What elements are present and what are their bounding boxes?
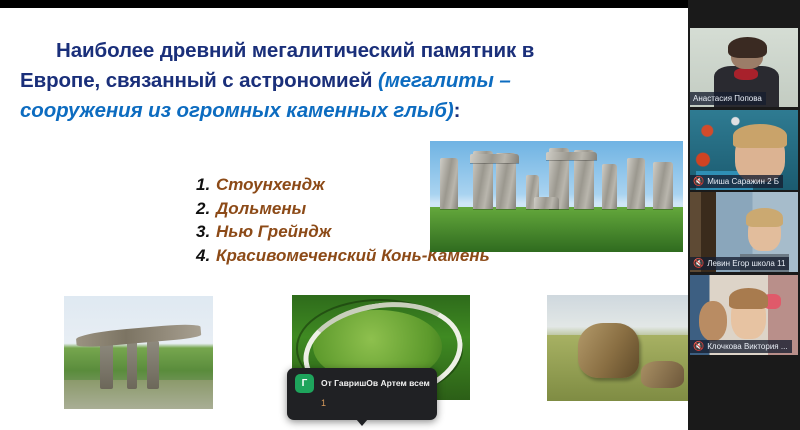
list-item-number: 4. xyxy=(196,244,216,268)
list-item-number: 1. xyxy=(196,173,216,197)
participant-video-sidebar: Анастасия Попова 🔇 Миша Саражин 2 Б 🔇 Ле… xyxy=(688,0,800,430)
presentation-slide: Наиболее древний мегалитический памятник… xyxy=(0,8,696,430)
participant-name-label: Анастасия Попова xyxy=(690,92,766,105)
stonehenge-photo xyxy=(430,141,683,252)
participant-name: Клочкова Виктория ... xyxy=(707,341,787,352)
list-item-label: Нью Грейндж xyxy=(216,220,331,244)
chat-notification-toast[interactable]: Г От ГавришОв Артем всем 1 xyxy=(287,368,437,420)
participant-tile[interactable]: 🔇 Левин Егор школа 11 xyxy=(690,192,798,272)
heading-line-1: Наиболее древний мегалитический памятник… xyxy=(56,39,534,62)
kon-kamen-photo xyxy=(547,295,690,401)
list-item-label: Дольмены xyxy=(216,197,306,221)
participant-name: Миша Саражин 2 Б xyxy=(707,176,779,187)
participant-name: Левин Егор школа 11 xyxy=(707,258,785,269)
toast-pointer xyxy=(356,419,368,426)
participant-tile[interactable]: Анастасия Попова xyxy=(690,28,798,107)
chat-sender-label: От ГавришОв Артем всем xyxy=(321,374,430,393)
participant-name: Анастасия Попова xyxy=(693,93,762,104)
top-black-bar xyxy=(0,0,800,8)
participant-name-label: 🔇 Клочкова Виктория ... xyxy=(690,340,792,353)
list-item-number: 3. xyxy=(196,220,216,244)
slide-heading: Наиболее древний мегалитический памятник… xyxy=(20,36,680,126)
screen-share-view: Наиболее древний мегалитический памятник… xyxy=(0,0,800,430)
participant-name-label: 🔇 Миша Саражин 2 Б xyxy=(690,175,783,188)
muted-mic-icon: 🔇 xyxy=(693,177,704,186)
participant-name-label: 🔇 Левин Егор школа 11 xyxy=(690,257,789,270)
participant-tile[interactable]: 🔇 Клочкова Виктория ... xyxy=(690,275,798,355)
heading-line-3-colon: : xyxy=(454,99,461,122)
participant-tile[interactable]: 🔇 Миша Саражин 2 Б xyxy=(690,110,798,190)
heading-line-2-plain: Европе, связанный с астрономией xyxy=(20,69,378,92)
chat-message-text: 1 xyxy=(321,398,429,408)
avatar: Г xyxy=(295,374,314,393)
dolmen-photo xyxy=(64,296,213,409)
muted-mic-icon: 🔇 xyxy=(693,342,704,351)
list-item-label: Стоунхендж xyxy=(216,173,325,197)
heading-line-3-emphasis: сооружения из огромных каменных глыб) xyxy=(20,99,454,122)
heading-line-2-emphasis: (мегалиты – xyxy=(378,69,511,92)
list-item-number: 2. xyxy=(196,197,216,221)
muted-mic-icon: 🔇 xyxy=(693,259,704,268)
